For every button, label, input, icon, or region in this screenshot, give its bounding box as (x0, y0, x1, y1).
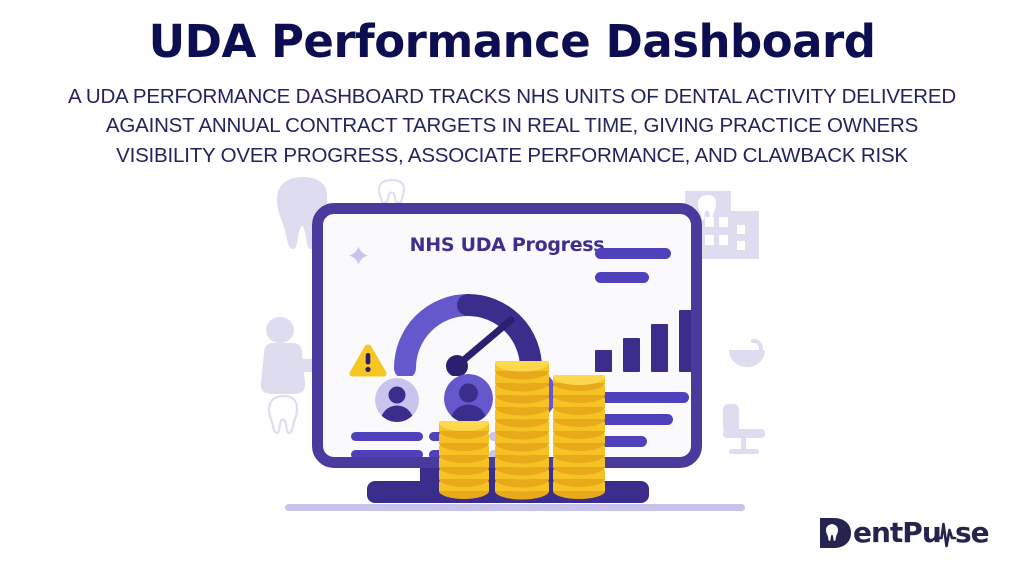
subtitle-line-2: AGAINST ANNUAL CONTRACT TARGETS IN REAL … (22, 111, 1002, 141)
ground-line (285, 504, 745, 511)
page-title: UDA Performance Dashboard (0, 16, 1024, 68)
svg-text:se: se (955, 516, 989, 549)
associate-row-1 (351, 432, 423, 441)
chart-bar-q2 (623, 338, 640, 372)
panel-bar-3 (595, 392, 689, 403)
panel-bar-1 (595, 248, 671, 259)
chart-bar-q3 (651, 324, 668, 372)
associate-avatar-2[interactable] (444, 374, 493, 423)
sparkle-icon (349, 246, 368, 265)
dental-stool-silhouette-right (721, 402, 773, 458)
tooth-outline-top-center (377, 177, 407, 205)
associate-avatar-1[interactable] (375, 378, 419, 422)
coin-stack-small (437, 421, 491, 503)
poster-header: UDA Performance Dashboard A UDA PERFORMA… (0, 0, 1024, 171)
page-subtitle: A UDA PERFORMANCE DASHBOARD TRACKS NHS U… (22, 82, 1002, 171)
spittoon-basin-silhouette-right (727, 338, 771, 370)
svg-text:entPu: entPu (853, 516, 941, 549)
subtitle-line-3: VISIBILITY OVER PROGRESS, ASSOCIATE PERF… (22, 141, 1002, 171)
clawback-risk-warning-icon[interactable] (348, 342, 388, 378)
subtitle-line-1: A UDA PERFORMANCE DASHBOARD TRACKS NHS U… (22, 82, 1002, 112)
coin-stack-tall (493, 361, 551, 503)
uda-bar-chart[interactable] (595, 310, 697, 372)
associate-row-2 (351, 450, 423, 459)
tooth-outline-bottom-left (267, 393, 301, 435)
dentpulse-logo[interactable]: entPu se DentPulse (817, 516, 992, 550)
coin-stack-medium (551, 375, 607, 503)
dentpulse-logo-mark: entPu se (817, 516, 992, 550)
poster-canvas: UDA Performance Dashboard A UDA PERFORMA… (0, 0, 1024, 576)
panel-bar-2 (595, 272, 649, 283)
chart-bar-q1 (595, 350, 612, 372)
chart-bar-q4 (679, 310, 696, 372)
uda-dashboard-illustration: NHS UDA Progress (255, 175, 775, 520)
